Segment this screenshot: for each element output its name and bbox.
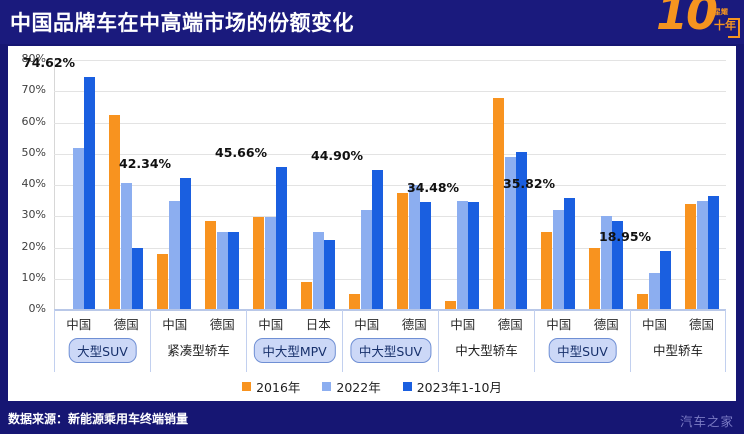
country-bar-set [102,60,150,310]
bar [169,201,180,310]
data-label: 44.90% [311,148,363,163]
category-cell: 中国德国中大型SUV [342,310,438,372]
country-bar-set [294,60,342,310]
bar [121,183,132,310]
bar [301,282,312,310]
category-axis: 中国德国大型SUV中国德国紧凑型轿车中国日本中大型MPV中国德国中大型SUV中国… [54,310,726,372]
chart-panel: 80%70%60%50%40%30%20%10%0% 74.62%42.34%4… [8,46,736,401]
segment-label: 中型SUV [548,338,617,363]
bar [228,232,239,310]
data-source-text: 数据来源：新能源乘用车终端销量 [8,410,188,427]
bar [637,294,648,310]
bar [73,148,84,311]
country-bar-set [246,60,294,310]
bar [457,201,468,310]
country-label: 中国 [535,314,583,333]
data-label: 42.34% [119,156,171,171]
data-label: 74.62% [23,55,75,70]
country-bar-set [342,60,390,310]
segment-label: 中大型SUV [350,338,431,363]
segment-label: 中型轿车 [645,338,711,361]
watermark-text: 汽车之家 [680,411,734,430]
bar-group [150,60,246,310]
legend-swatch [322,382,331,391]
bar [409,185,420,310]
segment-label: 大型SUV [68,338,137,363]
segment-label: 紧凑型轿车 [159,338,238,361]
country-bar-set [150,60,198,310]
legend-swatch [403,382,412,391]
country-labels: 中国德国 [343,314,438,334]
country-bar-set [54,60,102,310]
bar [397,193,408,310]
country-bar-set [198,60,246,310]
country-labels: 中国日本 [247,314,342,334]
bar [349,294,360,310]
country-labels: 中国德国 [439,314,534,334]
country-labels: 中国德国 [151,314,246,334]
country-label: 德国 [103,314,151,333]
segment-label: 中大型轿车 [447,338,526,361]
y-axis-tick-label: 30% [10,208,46,221]
country-label: 中国 [55,314,103,333]
y-axis-tick-label: 40% [10,177,46,190]
bar-group [246,60,342,310]
data-label: 35.82% [503,176,555,191]
footer-bar: 数据来源：新能源乘用车终端销量 汽车之家 [0,403,744,434]
country-label: 德国 [678,314,725,333]
category-cell: 中国德国中大型轿车 [438,310,534,372]
y-axis-tick-label: 20% [10,240,46,253]
logo-top-text: 星耀 [714,8,728,16]
bar [265,217,276,310]
segment-label: 中大型MPV [253,338,335,363]
bar [84,77,95,310]
y-axis-tick-label: 60% [10,115,46,128]
category-cell: 中国德国紧凑型轿车 [150,310,246,372]
bar [541,232,552,310]
bar [697,201,708,310]
bar-group [630,60,726,310]
country-bar-set [582,60,630,310]
bracket-icon [728,18,740,38]
bar [493,98,504,311]
country-labels: 中国德国 [535,314,630,334]
data-label: 18.95% [599,229,651,244]
y-axis-tick-label: 70% [10,83,46,96]
bar [205,221,216,310]
data-label: 45.66% [215,145,267,160]
legend-item[interactable]: 2022年 [322,377,380,396]
y-axis-tick-label: 10% [10,271,46,284]
bar [109,115,120,310]
country-label: 中国 [631,314,678,333]
legend-label: 2016年 [256,377,300,396]
bar [420,202,431,310]
country-label: 日本 [295,314,343,333]
page-title: 中国品牌车在中高端市场的份额变化 [10,7,354,37]
country-bar-set [678,60,726,310]
bar [685,204,696,310]
bar [276,167,287,310]
y-axis-tick-label: 0% [10,302,46,315]
bar [649,273,660,311]
bar-group [54,60,150,310]
country-label: 德国 [391,314,439,333]
country-label: 德国 [583,314,631,333]
legend-label: 2022年 [336,377,380,396]
logo-number: 10 [656,0,716,36]
bar [313,232,324,310]
bar [180,178,191,310]
bar [589,248,600,311]
data-label: 34.48% [407,180,459,195]
chart-legend: 2016年2022年2023年1-10月 [8,376,736,396]
bar [564,198,575,310]
y-axis-tick-label: 50% [10,146,46,159]
title-bar: 中国品牌车在中高端市场的份额变化 10 星耀 十年 [0,0,744,44]
country-label: 德国 [199,314,247,333]
legend-item[interactable]: 2016年 [242,377,300,396]
bar [324,240,335,310]
bar [217,232,228,310]
country-labels: 中国德国 [631,314,725,334]
category-cell: 中国德国中型轿车 [630,310,726,372]
legend-item[interactable]: 2023年1-10月 [403,377,502,396]
country-label: 中国 [247,314,295,333]
brand-logo: 10 星耀 十年 [654,0,740,46]
country-labels: 中国德国 [55,314,150,334]
country-bar-set [630,60,678,310]
category-cell: 中国德国中型SUV [534,310,630,372]
bar [372,170,383,310]
country-label: 中国 [343,314,391,333]
bar [660,251,671,310]
legend-swatch [242,382,251,391]
country-label: 中国 [151,314,199,333]
category-cell: 中国日本中大型MPV [246,310,342,372]
bar [253,217,264,310]
legend-label: 2023年1-10月 [417,377,502,396]
bar [361,210,372,310]
bar [553,210,564,310]
bar [708,196,719,310]
plot-area: 74.62%42.34%45.66%44.90%34.48%35.82%18.9… [54,60,726,310]
bar [157,254,168,310]
category-cell: 中国德国大型SUV [54,310,150,372]
bar [132,248,143,311]
country-label: 德国 [487,314,535,333]
country-label: 中国 [439,314,487,333]
bar [468,202,479,310]
chart-page: 中国品牌车在中高端市场的份额变化 10 星耀 十年 80%70%60%50%40… [0,0,744,434]
